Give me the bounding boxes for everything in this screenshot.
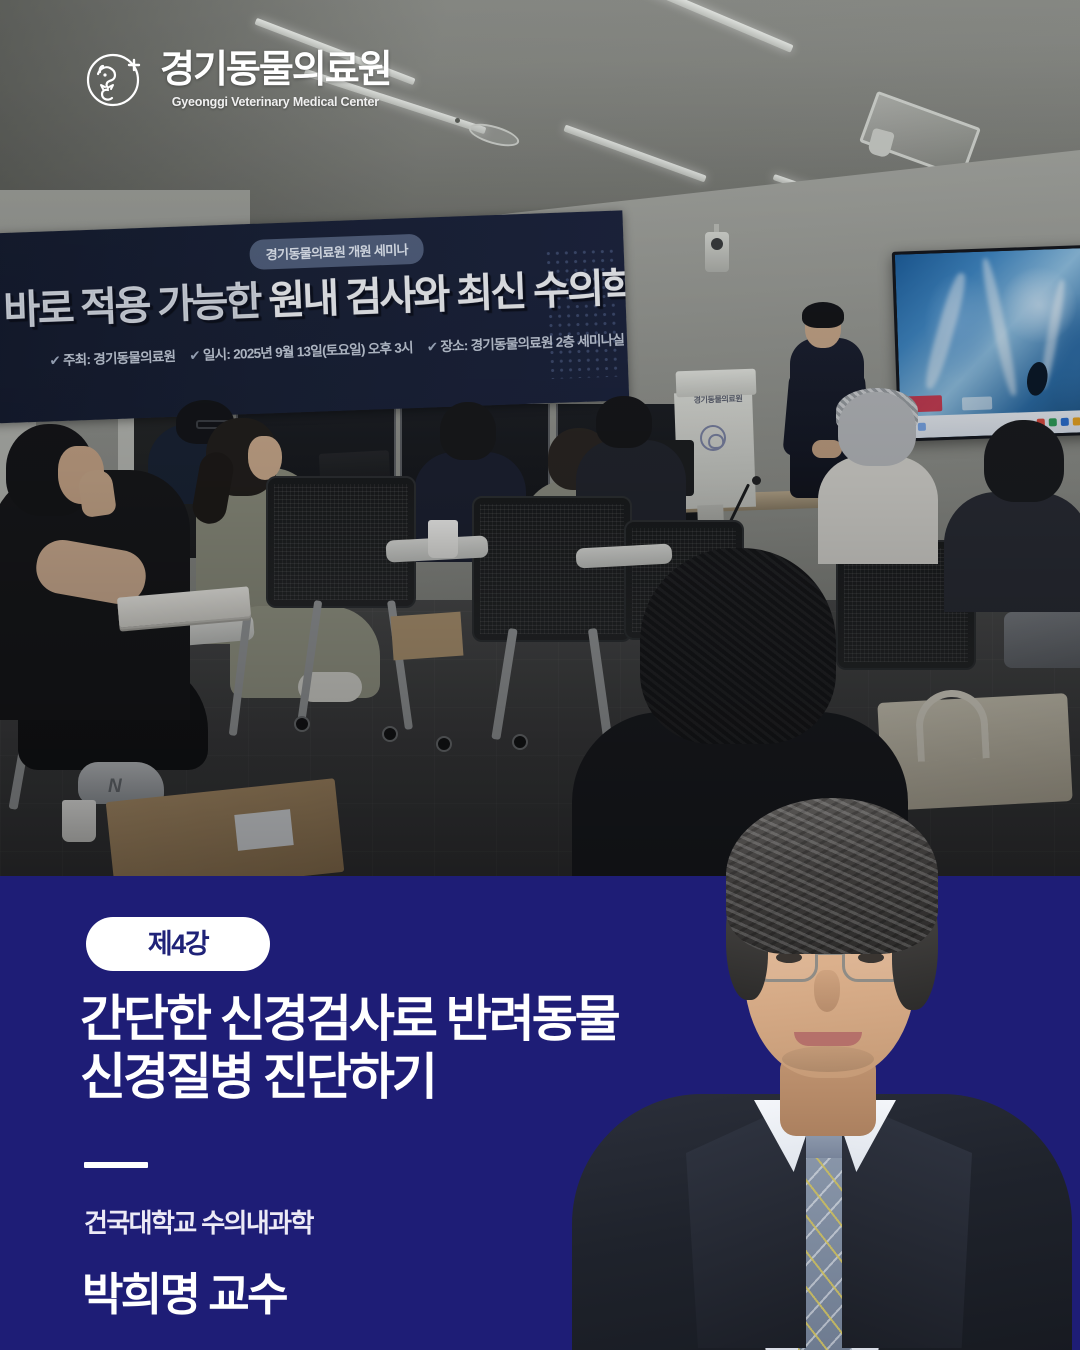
- banner-detail-item: ✔주최: 경기동물의료원: [49, 345, 176, 370]
- audience-member-head: [838, 392, 916, 466]
- portrait-mouth: [794, 1032, 862, 1046]
- brand-logo-text: 경기동물의료원 Gyeonggi Veterinary Medical Cent…: [160, 49, 391, 109]
- paper-cup: [62, 800, 96, 842]
- ceiling-dot: [455, 118, 460, 123]
- taskbar-icon: [1061, 418, 1069, 426]
- banner-headline-part2: 원내 검사와 최신 수의학: [268, 266, 630, 323]
- banner-detail-text: 일시: 2025년 9월 13일(토요일) 오후 3시: [203, 340, 413, 363]
- cardboard-box: [391, 612, 464, 661]
- presenter-hands: [812, 440, 842, 458]
- audience-member-face: [248, 436, 282, 480]
- audience-member-body: [944, 492, 1080, 612]
- microphone-head-icon: [752, 476, 761, 485]
- wall-speaker-icon: [705, 232, 729, 272]
- lecture-number-badge: 제4강: [86, 917, 270, 971]
- banner-detail-text: 주최: 경기동물의료원: [63, 349, 176, 368]
- foreground-audience-head: [640, 548, 836, 744]
- title-divider: [84, 1162, 148, 1168]
- desktop-tile: [962, 396, 992, 410]
- sneaker-logo: N: [108, 776, 130, 796]
- check-icon: ✔: [427, 339, 438, 354]
- wall-display-tv: [892, 244, 1080, 441]
- seminar-room-photo: 경기동물의료원 개원 세미나 바로 적용 가능한 원내 검사와 최신 수의학 ✔…: [0, 0, 1080, 876]
- audience-member-head: [440, 402, 496, 460]
- chair-caster: [382, 726, 398, 742]
- box-label: [234, 809, 293, 851]
- seminar-banner: 경기동물의료원 개원 세미나 바로 적용 가능한 원내 검사와 최신 수의학 ✔…: [0, 210, 629, 423]
- audience-member-body: [818, 456, 938, 564]
- portrait-hair: [726, 798, 938, 954]
- portrait-chin-shadow: [782, 1046, 874, 1072]
- chair-mesh: [480, 504, 624, 634]
- brand-logo: 경기동물의료원 Gyeonggi Veterinary Medical Cent…: [84, 48, 391, 110]
- dog-cat-circle-plus-logo-icon: [84, 48, 146, 110]
- paper-cup: [428, 520, 458, 558]
- brand-name-en: Gyeonggi Veterinary Medical Center: [160, 95, 391, 109]
- speaker-name: 박희명 교수: [82, 1258, 286, 1323]
- taskbar-icon: [1049, 418, 1057, 426]
- audience-member-head: [984, 420, 1064, 502]
- brand-name-kr: 경기동물의료원: [160, 51, 391, 89]
- chair-caster: [436, 736, 452, 752]
- speaker-affiliation: 건국대학교 수의내과학: [84, 1203, 313, 1240]
- check-icon: ✔: [49, 353, 60, 368]
- presenter-hair: [802, 302, 844, 328]
- gray-bag: [1004, 612, 1080, 668]
- lecture-number-label: 제4강: [148, 931, 208, 958]
- chair-back: [472, 496, 632, 642]
- banner-headline: 바로 적용 가능한 원내 검사와 최신 수의학: [2, 256, 604, 336]
- chair-caster: [512, 734, 528, 750]
- audience-member-head: [596, 396, 652, 448]
- check-icon: ✔: [189, 348, 200, 363]
- banner-headline-part1: 바로 적용 가능한: [3, 279, 269, 333]
- portrait-nose: [814, 970, 840, 1012]
- taskbar-icon: [918, 423, 926, 431]
- chair-caster: [294, 716, 310, 732]
- banner-details: ✔주최: 경기동물의료원 ✔일시: 2025년 9월 13일(토요일) 오후 3…: [49, 328, 624, 369]
- seminar-promo-card: 경기동물의료원 개원 세미나 바로 적용 가능한 원내 검사와 최신 수의학 ✔…: [0, 0, 1080, 1350]
- taskbar-icon: [1073, 417, 1080, 425]
- banner-detail-item: ✔일시: 2025년 9월 13일(토요일) 오후 3시: [189, 336, 413, 364]
- speaker-portrait: [566, 764, 1080, 1350]
